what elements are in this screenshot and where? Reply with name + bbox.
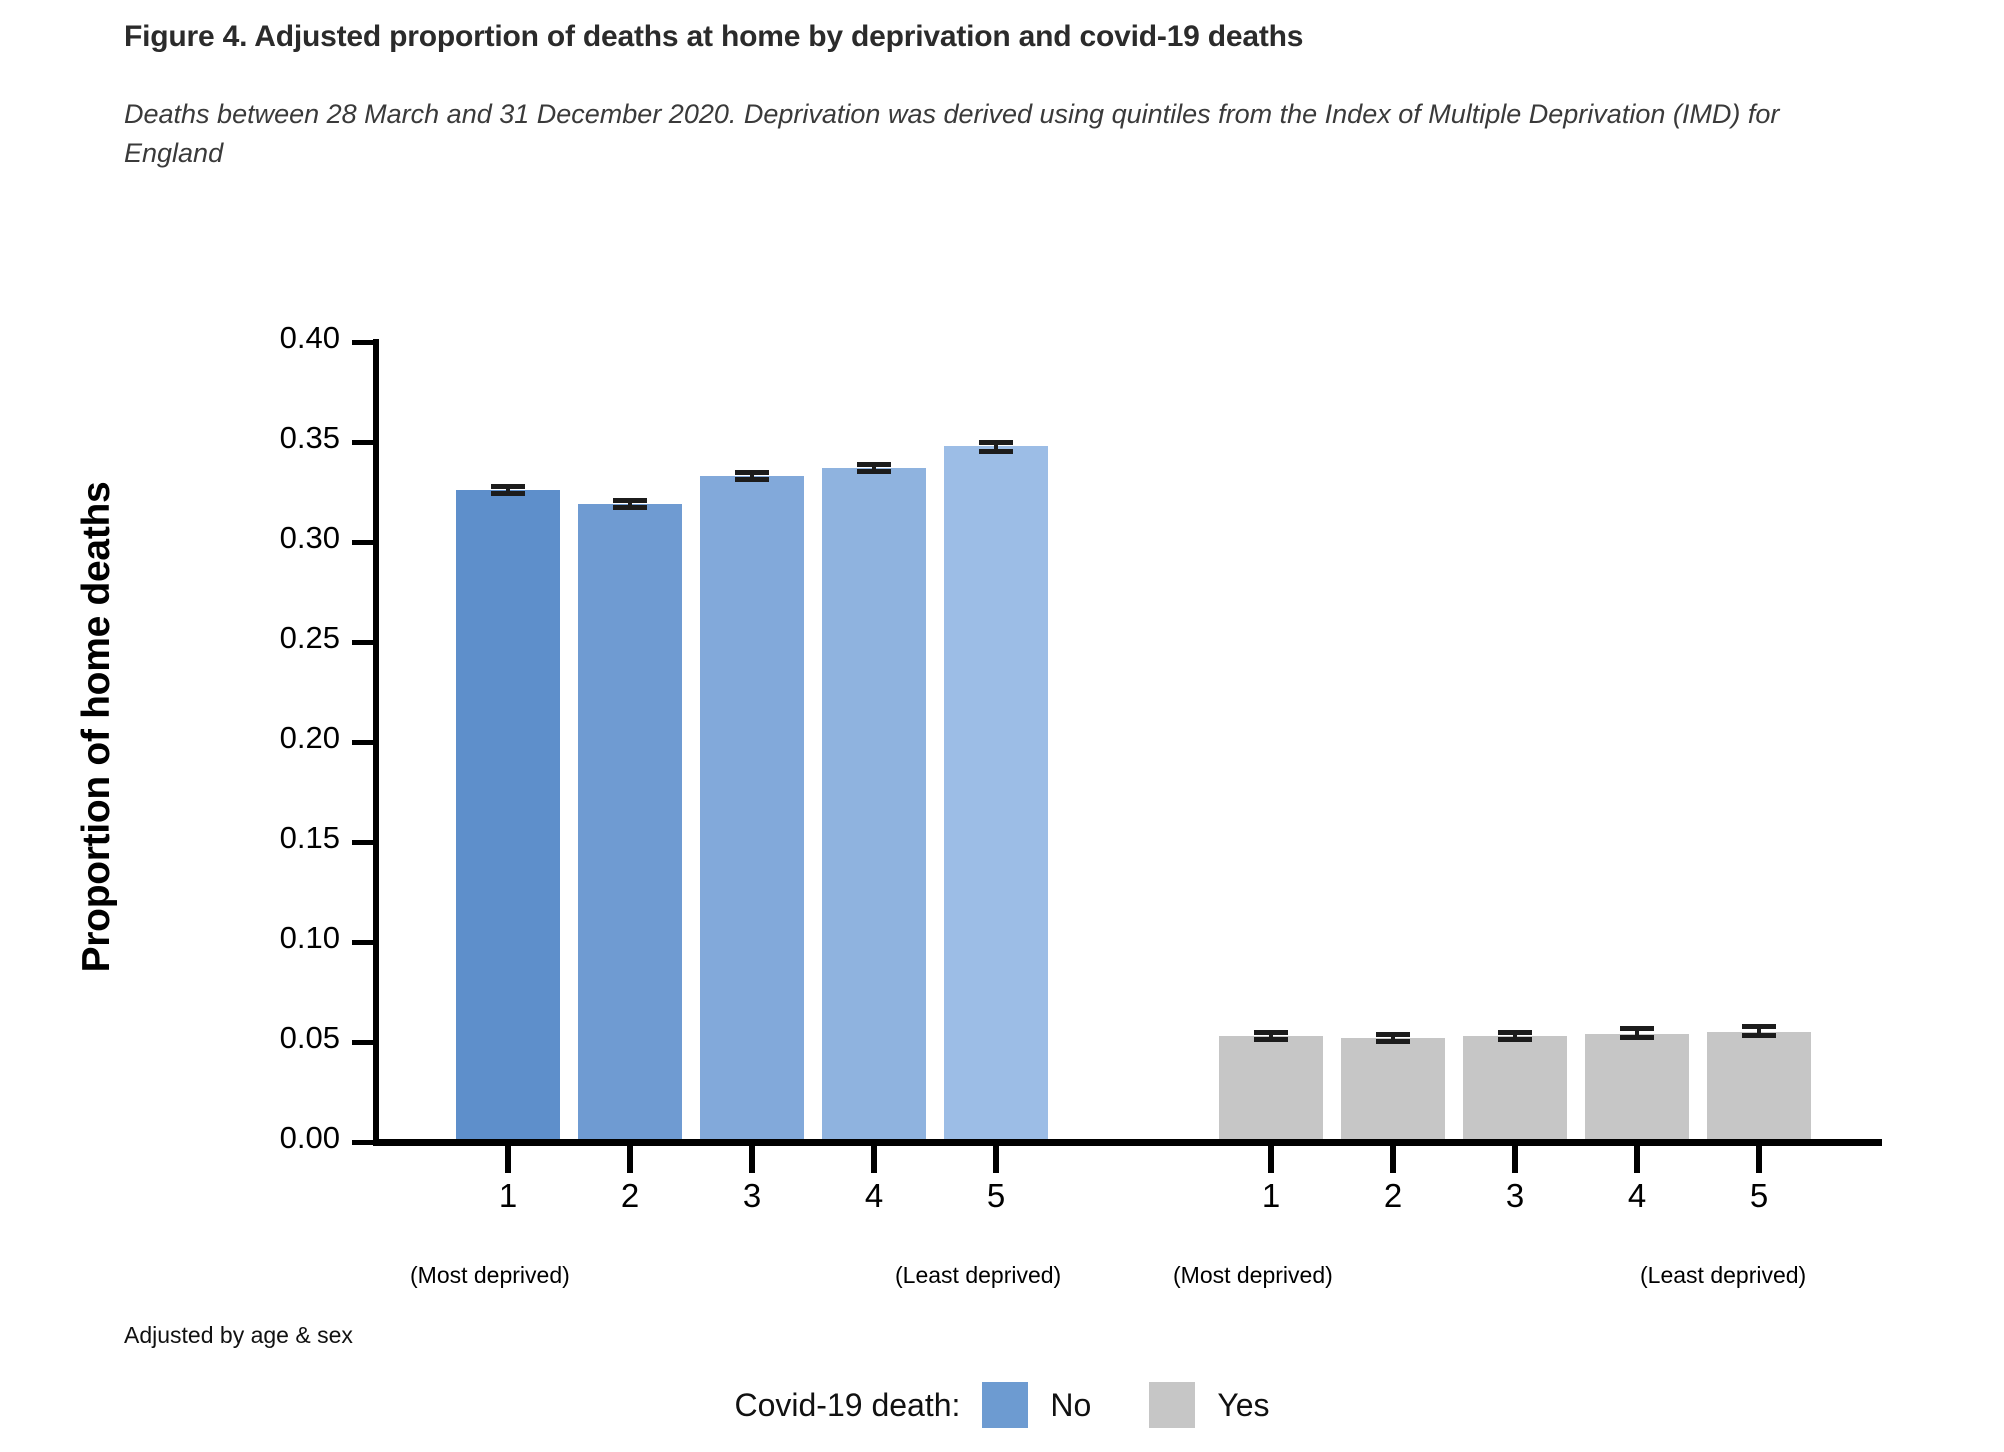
group-note-most-deprived-yes: (Most deprived) [1173,1262,1333,1289]
x-axis-tick [749,1146,755,1173]
x-axis-tick-label: 3 [1475,1177,1555,1215]
bar-yes-3[interactable] [1463,1036,1567,1142]
legend-item-no[interactable]: No [982,1382,1091,1428]
bar-no-5[interactable] [944,446,1048,1142]
error-bar-no-2 [610,498,650,510]
group-note-least-deprived-yes: (Least deprived) [1640,1262,1806,1289]
x-axis-tick [993,1146,999,1173]
error-bar-yes-3 [1495,1030,1535,1042]
legend-label-no: No [1050,1387,1091,1424]
x-axis-tick [1512,1146,1518,1173]
x-axis-tick [627,1146,633,1173]
error-bar-no-3 [732,470,772,482]
x-axis-tick [1390,1146,1396,1173]
x-axis-tick-label: 1 [468,1177,548,1215]
x-axis-tick-label: 2 [590,1177,670,1215]
chart-legend: Covid-19 death: No Yes [0,1382,2004,1428]
bar-yes-4[interactable] [1585,1034,1689,1142]
legend-label-yes: Yes [1217,1387,1269,1424]
x-axis-tick [1634,1146,1640,1173]
x-axis-tick [871,1146,877,1173]
x-axis-tick-label: 3 [712,1177,792,1215]
legend-swatch-no-icon [982,1382,1028,1428]
x-axis-tick-label: 2 [1353,1177,1433,1215]
bar-yes-2[interactable] [1341,1038,1445,1142]
legend-item-yes[interactable]: Yes [1149,1382,1269,1428]
x-axis-tick-label: 4 [1597,1177,1677,1215]
error-bar-yes-5 [1739,1024,1779,1038]
error-bar-yes-4 [1617,1026,1657,1040]
x-axis-line [373,1139,1882,1146]
bar-no-4[interactable] [822,468,926,1142]
error-bar-no-4 [854,462,894,474]
bar-no-2[interactable] [578,504,682,1142]
bar-no-3[interactable] [700,476,804,1142]
error-bar-yes-2 [1373,1032,1413,1044]
x-axis-tick [505,1146,511,1173]
bar-yes-5[interactable] [1707,1032,1811,1142]
error-bar-no-1 [488,484,528,496]
chart-plot-area: Proportion of home deaths 0.000.050.100.… [0,0,2004,1452]
figure-footnote: Adjusted by age & sex [124,1322,353,1349]
error-bar-no-5 [976,440,1016,454]
x-axis-tick [1268,1146,1274,1173]
x-axis-tick-label: 5 [956,1177,1036,1215]
x-axis-tick [1756,1146,1762,1173]
x-axis-tick-label: 1 [1231,1177,1311,1215]
group-note-most-deprived-no: (Most deprived) [410,1262,570,1289]
legend-swatch-yes-icon [1149,1382,1195,1428]
bar-no-1[interactable] [456,490,560,1142]
group-note-least-deprived-no: (Least deprived) [895,1262,1061,1289]
bar-yes-1[interactable] [1219,1036,1323,1142]
x-axis-tick-label: 4 [834,1177,914,1215]
legend-title: Covid-19 death: [734,1387,960,1424]
x-axis-tick-label: 5 [1719,1177,1799,1215]
error-bar-yes-1 [1251,1030,1291,1042]
bars-layer [0,0,2004,1142]
